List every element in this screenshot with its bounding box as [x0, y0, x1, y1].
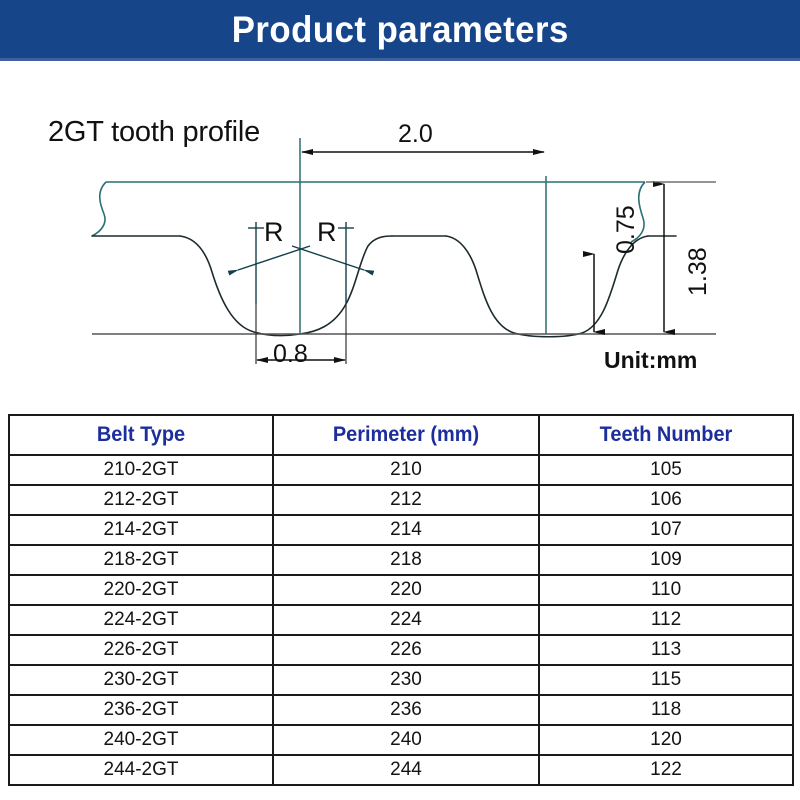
cell-teeth-number: 106: [539, 485, 793, 515]
cell-perimeter: 218: [273, 545, 539, 575]
tooth-profile-diagram: 2GT tooth profile 2.0 0.8 R R 0.75 1.38 …: [0, 64, 800, 404]
dimension-label-radius-right: R: [317, 217, 337, 248]
table-row: 214-2GT214107: [9, 515, 793, 545]
tooth-contour: [92, 236, 676, 337]
cell-teeth-number: 110: [539, 575, 793, 605]
table-row: 226-2GT226113: [9, 635, 793, 665]
cell-belt-type: 220-2GT: [9, 575, 273, 605]
table-row: 220-2GT220110: [9, 575, 793, 605]
cell-teeth-number: 120: [539, 725, 793, 755]
cell-teeth-number: 112: [539, 605, 793, 635]
unit-note: Unit:mm: [604, 347, 697, 374]
column-header-belt-type: Belt Type: [16, 415, 267, 455]
cell-belt-type: 240-2GT: [9, 725, 273, 755]
cell-belt-type: 212-2GT: [9, 485, 273, 515]
cell-belt-type: 218-2GT: [9, 545, 273, 575]
cell-teeth-number: 115: [539, 665, 793, 695]
cell-teeth-number: 109: [539, 545, 793, 575]
table-row: 224-2GT224112: [9, 605, 793, 635]
cell-belt-type: 236-2GT: [9, 695, 273, 725]
cell-perimeter: 210: [273, 455, 539, 485]
cell-perimeter: 230: [273, 665, 539, 695]
page-header-banner: Product parameters: [0, 0, 800, 61]
cell-belt-type: 226-2GT: [9, 635, 273, 665]
cell-teeth-number: 107: [539, 515, 793, 545]
cell-belt-type: 244-2GT: [9, 755, 273, 785]
table-header-row: Belt Type Perimeter (mm) Teeth Number: [9, 415, 793, 455]
cell-teeth-number: 113: [539, 635, 793, 665]
cell-belt-type: 214-2GT: [9, 515, 273, 545]
cell-perimeter: 240: [273, 725, 539, 755]
dimension-label-belt-height: 1.38: [684, 247, 713, 296]
cell-perimeter: 220: [273, 575, 539, 605]
table-row: 240-2GT240120: [9, 725, 793, 755]
table-row: 230-2GT230115: [9, 665, 793, 695]
cell-teeth-number: 122: [539, 755, 793, 785]
cell-teeth-number: 105: [539, 455, 793, 485]
table-row: 210-2GT210105: [9, 455, 793, 485]
radius-markers: [238, 222, 364, 304]
page-title: Product parameters: [231, 11, 568, 48]
dimension-label-tooth-depth: 0.75: [612, 205, 641, 254]
column-header-teeth-number: Teeth Number: [545, 415, 786, 455]
cell-belt-type: 224-2GT: [9, 605, 273, 635]
diagram-title: 2GT tooth profile: [48, 116, 260, 149]
table-row: 212-2GT212106: [9, 485, 793, 515]
table-row: 236-2GT236118: [9, 695, 793, 725]
cell-perimeter: 224: [273, 605, 539, 635]
dimension-label-radius-left: R: [264, 217, 284, 248]
specification-table: Belt Type Perimeter (mm) Teeth Number 21…: [8, 414, 794, 786]
cell-perimeter: 244: [273, 755, 539, 785]
dimension-label-groove-width: 0.8: [273, 340, 308, 369]
column-header-perimeter: Perimeter (mm): [280, 415, 533, 455]
cell-perimeter: 236: [273, 695, 539, 725]
table-row: 244-2GT244122: [9, 755, 793, 785]
dimension-label-pitch: 2.0: [398, 120, 433, 149]
cell-perimeter: 226: [273, 635, 539, 665]
cell-belt-type: 230-2GT: [9, 665, 273, 695]
cell-belt-type: 210-2GT: [9, 455, 273, 485]
cell-perimeter: 214: [273, 515, 539, 545]
belt-outline: [92, 182, 645, 242]
table-body: 210-2GT210105212-2GT212106214-2GT2141072…: [9, 455, 793, 785]
cell-teeth-number: 118: [539, 695, 793, 725]
specification-table-container: Belt Type Perimeter (mm) Teeth Number 21…: [8, 414, 792, 786]
cell-perimeter: 212: [273, 485, 539, 515]
table-row: 218-2GT218109: [9, 545, 793, 575]
